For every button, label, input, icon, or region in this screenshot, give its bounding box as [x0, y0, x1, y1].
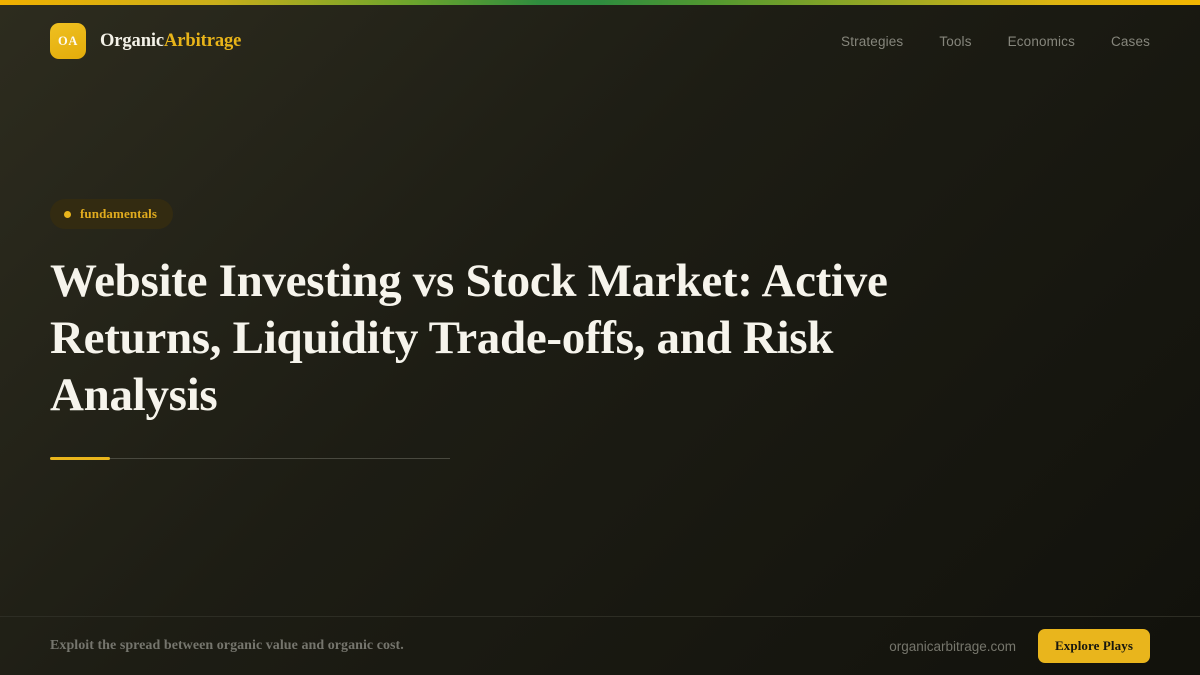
badge-label: fundamentals [80, 206, 157, 222]
brand-word-second: Arbitrage [164, 31, 241, 51]
hero-section: fundamentals Website Investing vs Stock … [0, 77, 1200, 616]
site-footer: Exploit the spread between organic value… [0, 616, 1200, 675]
page-root: OA OrganicArbitrage Strategies Tools Eco… [0, 0, 1200, 675]
rule-thin-segment [110, 458, 450, 459]
badge-dot-icon [64, 211, 71, 218]
brand-wordmark: OrganicArbitrage [100, 31, 241, 52]
title-underline-rule [50, 457, 450, 460]
footer-tagline: Exploit the spread between organic value… [50, 638, 404, 654]
page-title: Website Investing vs Stock Market: Activ… [50, 253, 930, 424]
nav-item-economics[interactable]: Economics [1008, 34, 1075, 49]
footer-domain-label: organicarbitrage.com [889, 639, 1016, 654]
category-badge[interactable]: fundamentals [50, 199, 173, 229]
explore-plays-button[interactable]: Explore Plays [1038, 629, 1150, 663]
footer-actions: organicarbitrage.com Explore Plays [889, 629, 1150, 663]
nav-item-cases[interactable]: Cases [1111, 34, 1150, 49]
nav-item-tools[interactable]: Tools [939, 34, 971, 49]
brand-logo[interactable]: OA OrganicArbitrage [50, 23, 241, 59]
brand-word-first: Organic [100, 31, 164, 51]
main-nav: Strategies Tools Economics Cases [841, 34, 1150, 49]
site-header: OA OrganicArbitrage Strategies Tools Eco… [0, 5, 1200, 77]
rule-accent-segment [50, 457, 110, 460]
brand-mark-icon: OA [50, 23, 86, 59]
nav-item-strategies[interactable]: Strategies [841, 34, 903, 49]
